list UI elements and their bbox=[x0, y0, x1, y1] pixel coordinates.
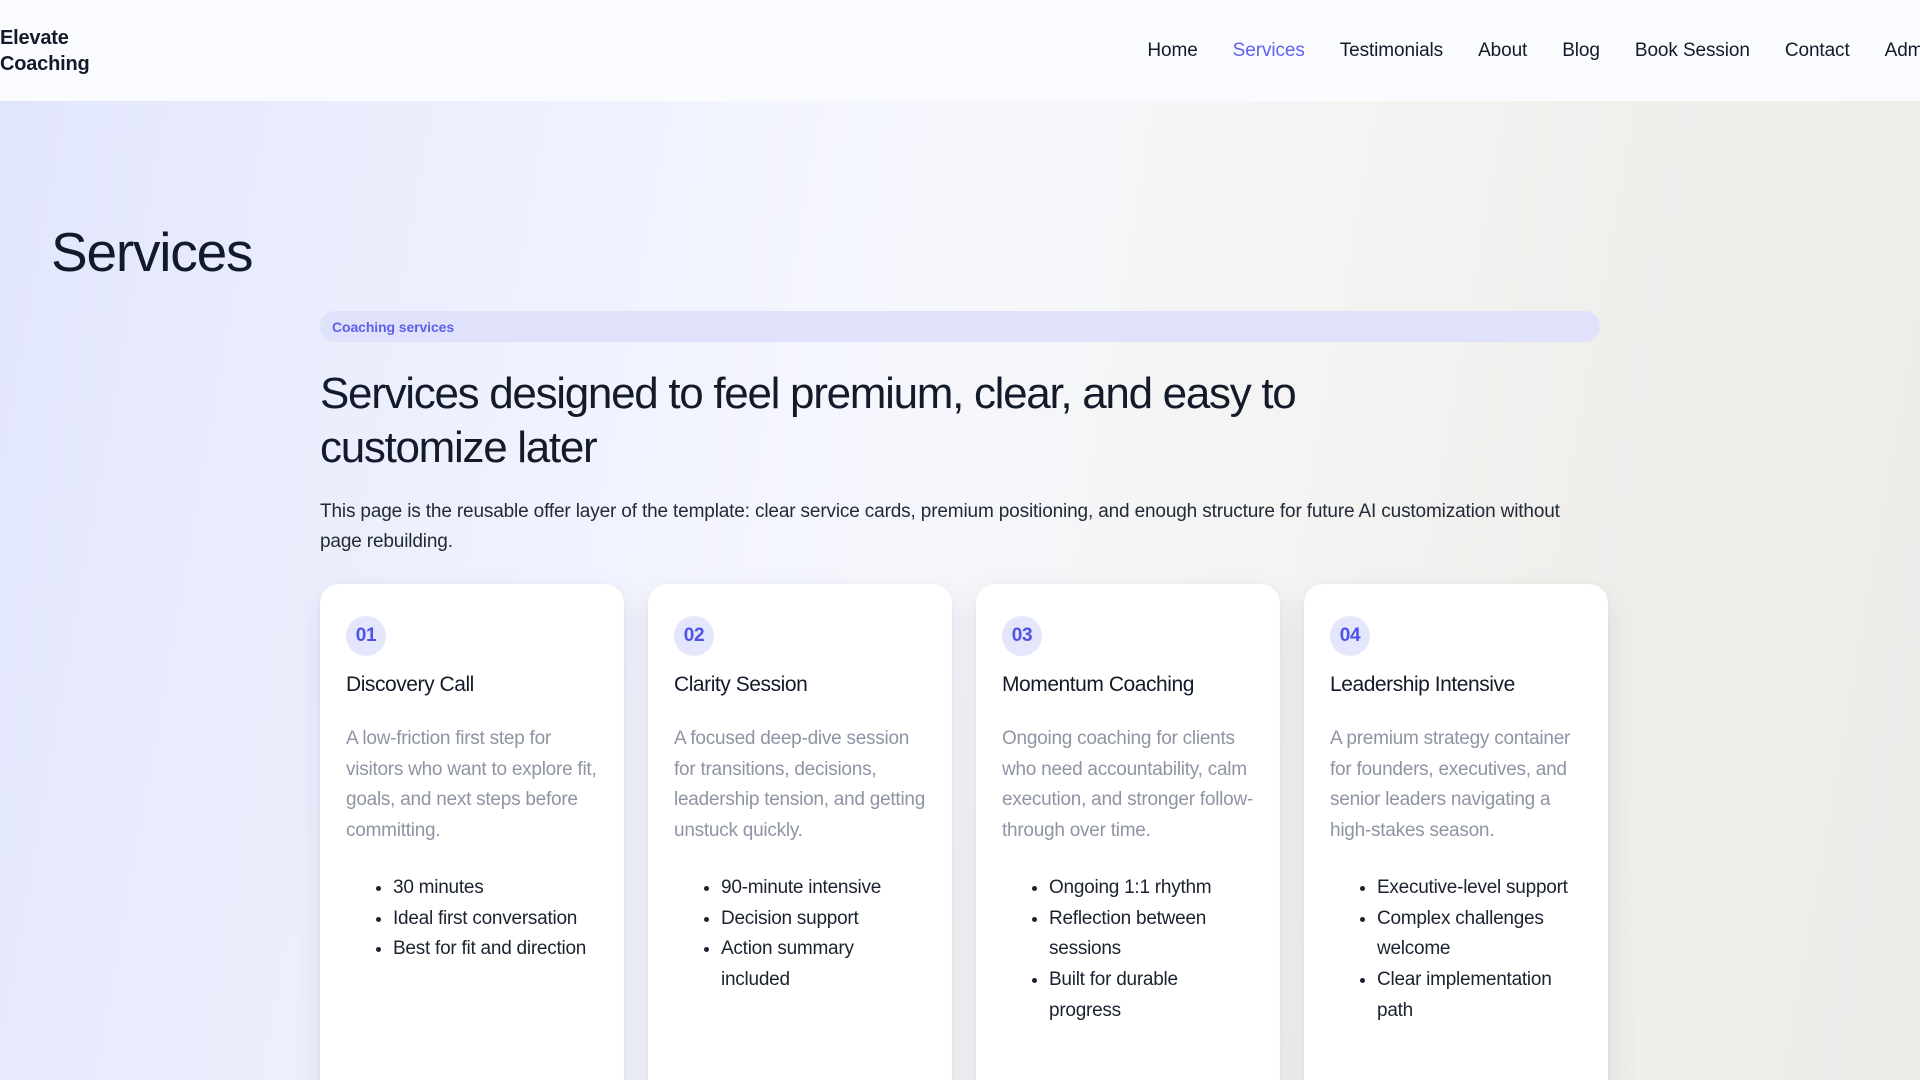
service-card-feature: Action summary included bbox=[721, 934, 926, 996]
service-card-number: 01 bbox=[346, 616, 386, 656]
service-card-feature: Decision support bbox=[721, 904, 926, 935]
hero-heading: Services designed to feel premium, clear… bbox=[320, 367, 1440, 474]
nav-link-testimonials[interactable]: Testimonials bbox=[1340, 40, 1443, 62]
service-card-feature: Ongoing 1:1 rhythm bbox=[1049, 873, 1254, 904]
service-card[interactable]: 03 Momentum Coaching Ongoing coaching fo… bbox=[976, 584, 1280, 1080]
service-card-feature: Clear implementation path bbox=[1377, 965, 1582, 1027]
service-card-description: A low-friction first step for visitors w… bbox=[346, 724, 598, 847]
service-card-feature-list: 30 minutes Ideal first conversation Best… bbox=[346, 873, 598, 965]
nav-link-about[interactable]: About bbox=[1478, 40, 1527, 62]
service-card-title: Clarity Session bbox=[674, 672, 926, 698]
service-card-number: 04 bbox=[1330, 616, 1370, 656]
site-header: Elevate Coaching Home Services Testimoni… bbox=[0, 0, 1920, 101]
service-card-feature: Complex challenges welcome bbox=[1377, 904, 1582, 966]
service-card-feature-list: Ongoing 1:1 rhythm Reflection between se… bbox=[1002, 873, 1254, 1027]
nav-link-home[interactable]: Home bbox=[1147, 40, 1197, 62]
brand-logo[interactable]: Elevate Coaching bbox=[0, 25, 118, 77]
service-card-description: A focused deep-dive session for transiti… bbox=[674, 724, 926, 847]
service-card-title: Leadership Intensive bbox=[1330, 672, 1582, 698]
service-card-feature-list: Executive-level support Complex challeng… bbox=[1330, 873, 1582, 1027]
service-card-feature: Executive-level support bbox=[1377, 873, 1582, 904]
service-card-feature: 30 minutes bbox=[393, 873, 598, 904]
eyebrow-badge-label: Coaching services bbox=[332, 319, 454, 335]
hero-container: Coaching services Services designed to f… bbox=[320, 311, 1600, 1080]
service-card-feature-list: 90-minute intensive Decision support Act… bbox=[674, 873, 926, 996]
nav-link-services[interactable]: Services bbox=[1233, 40, 1305, 62]
nav-link-blog[interactable]: Blog bbox=[1562, 40, 1600, 62]
nav-link-book-session[interactable]: Book Session bbox=[1635, 40, 1750, 62]
service-card-number: 03 bbox=[1002, 616, 1042, 656]
service-card-number: 02 bbox=[674, 616, 714, 656]
nav-link-admin[interactable]: Admin bbox=[1885, 40, 1920, 62]
service-card-feature: 90-minute intensive bbox=[721, 873, 926, 904]
service-card-feature: Ideal first conversation bbox=[393, 904, 598, 935]
page-body: Services Coaching services Services desi… bbox=[0, 101, 1920, 1080]
service-cards-row: 01 Discovery Call A low-friction first s… bbox=[320, 584, 1600, 1080]
hero-subheading: This page is the reusable offer layer of… bbox=[320, 497, 1590, 557]
service-card-feature: Best for fit and direction bbox=[393, 934, 598, 965]
service-card-feature: Built for durable progress bbox=[1049, 965, 1254, 1027]
service-card-description: A premium strategy container for founder… bbox=[1330, 724, 1582, 847]
service-card-title: Momentum Coaching bbox=[1002, 672, 1254, 698]
service-card-description: Ongoing coaching for clients who need ac… bbox=[1002, 724, 1254, 847]
page-title: Services bbox=[0, 101, 1920, 284]
service-card[interactable]: 04 Leadership Intensive A premium strate… bbox=[1304, 584, 1608, 1080]
service-card-title: Discovery Call bbox=[346, 672, 598, 698]
eyebrow-badge: Coaching services bbox=[320, 311, 1600, 342]
service-card[interactable]: 01 Discovery Call A low-friction first s… bbox=[320, 584, 624, 1080]
main-navigation: Home Services Testimonials About Blog Bo… bbox=[1147, 40, 1920, 62]
service-card[interactable]: 02 Clarity Session A focused deep-dive s… bbox=[648, 584, 952, 1080]
nav-link-contact[interactable]: Contact bbox=[1785, 40, 1850, 62]
service-card-feature: Reflection between sessions bbox=[1049, 904, 1254, 966]
